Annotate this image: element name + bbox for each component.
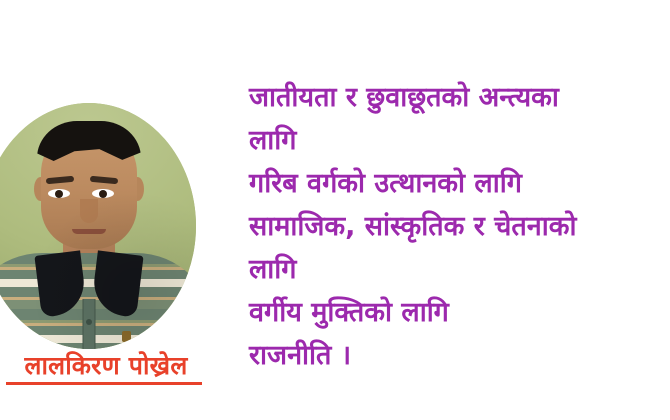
name-underline	[6, 382, 202, 385]
slogan-line: गरिब वर्गको उत्थानको लागि	[249, 162, 669, 205]
poster-canvas: लालकिरण पोख्रेल जातीयता र छुवाछूतको अन्त…	[0, 0, 670, 420]
photo-shading	[0, 103, 196, 349]
slogan-line: सामाजिक, सांस्कृतिक र चेतनाको	[249, 205, 669, 248]
name-caption: लालकिरण पोख्रेल	[6, 352, 206, 385]
person-name: लालकिरण पोख्रेल	[6, 352, 206, 380]
slogan-line: वर्गीय मुक्तिको लागि	[249, 291, 669, 334]
slogan-line: लागि	[249, 248, 669, 291]
slogan-line: राजनीति ।	[249, 334, 669, 377]
slogan-line: लागि	[249, 119, 669, 162]
slogan-block: जातीयता र छुवाछूतको अन्त्यका लागि गरिब व…	[249, 76, 669, 377]
portrait-photo	[0, 103, 196, 349]
slogan-line: जातीयता र छुवाछूतको अन्त्यका	[249, 76, 669, 119]
portrait-photo-image	[0, 103, 196, 349]
portrait-panel: लालकिरण पोख्रेल	[0, 0, 240, 420]
